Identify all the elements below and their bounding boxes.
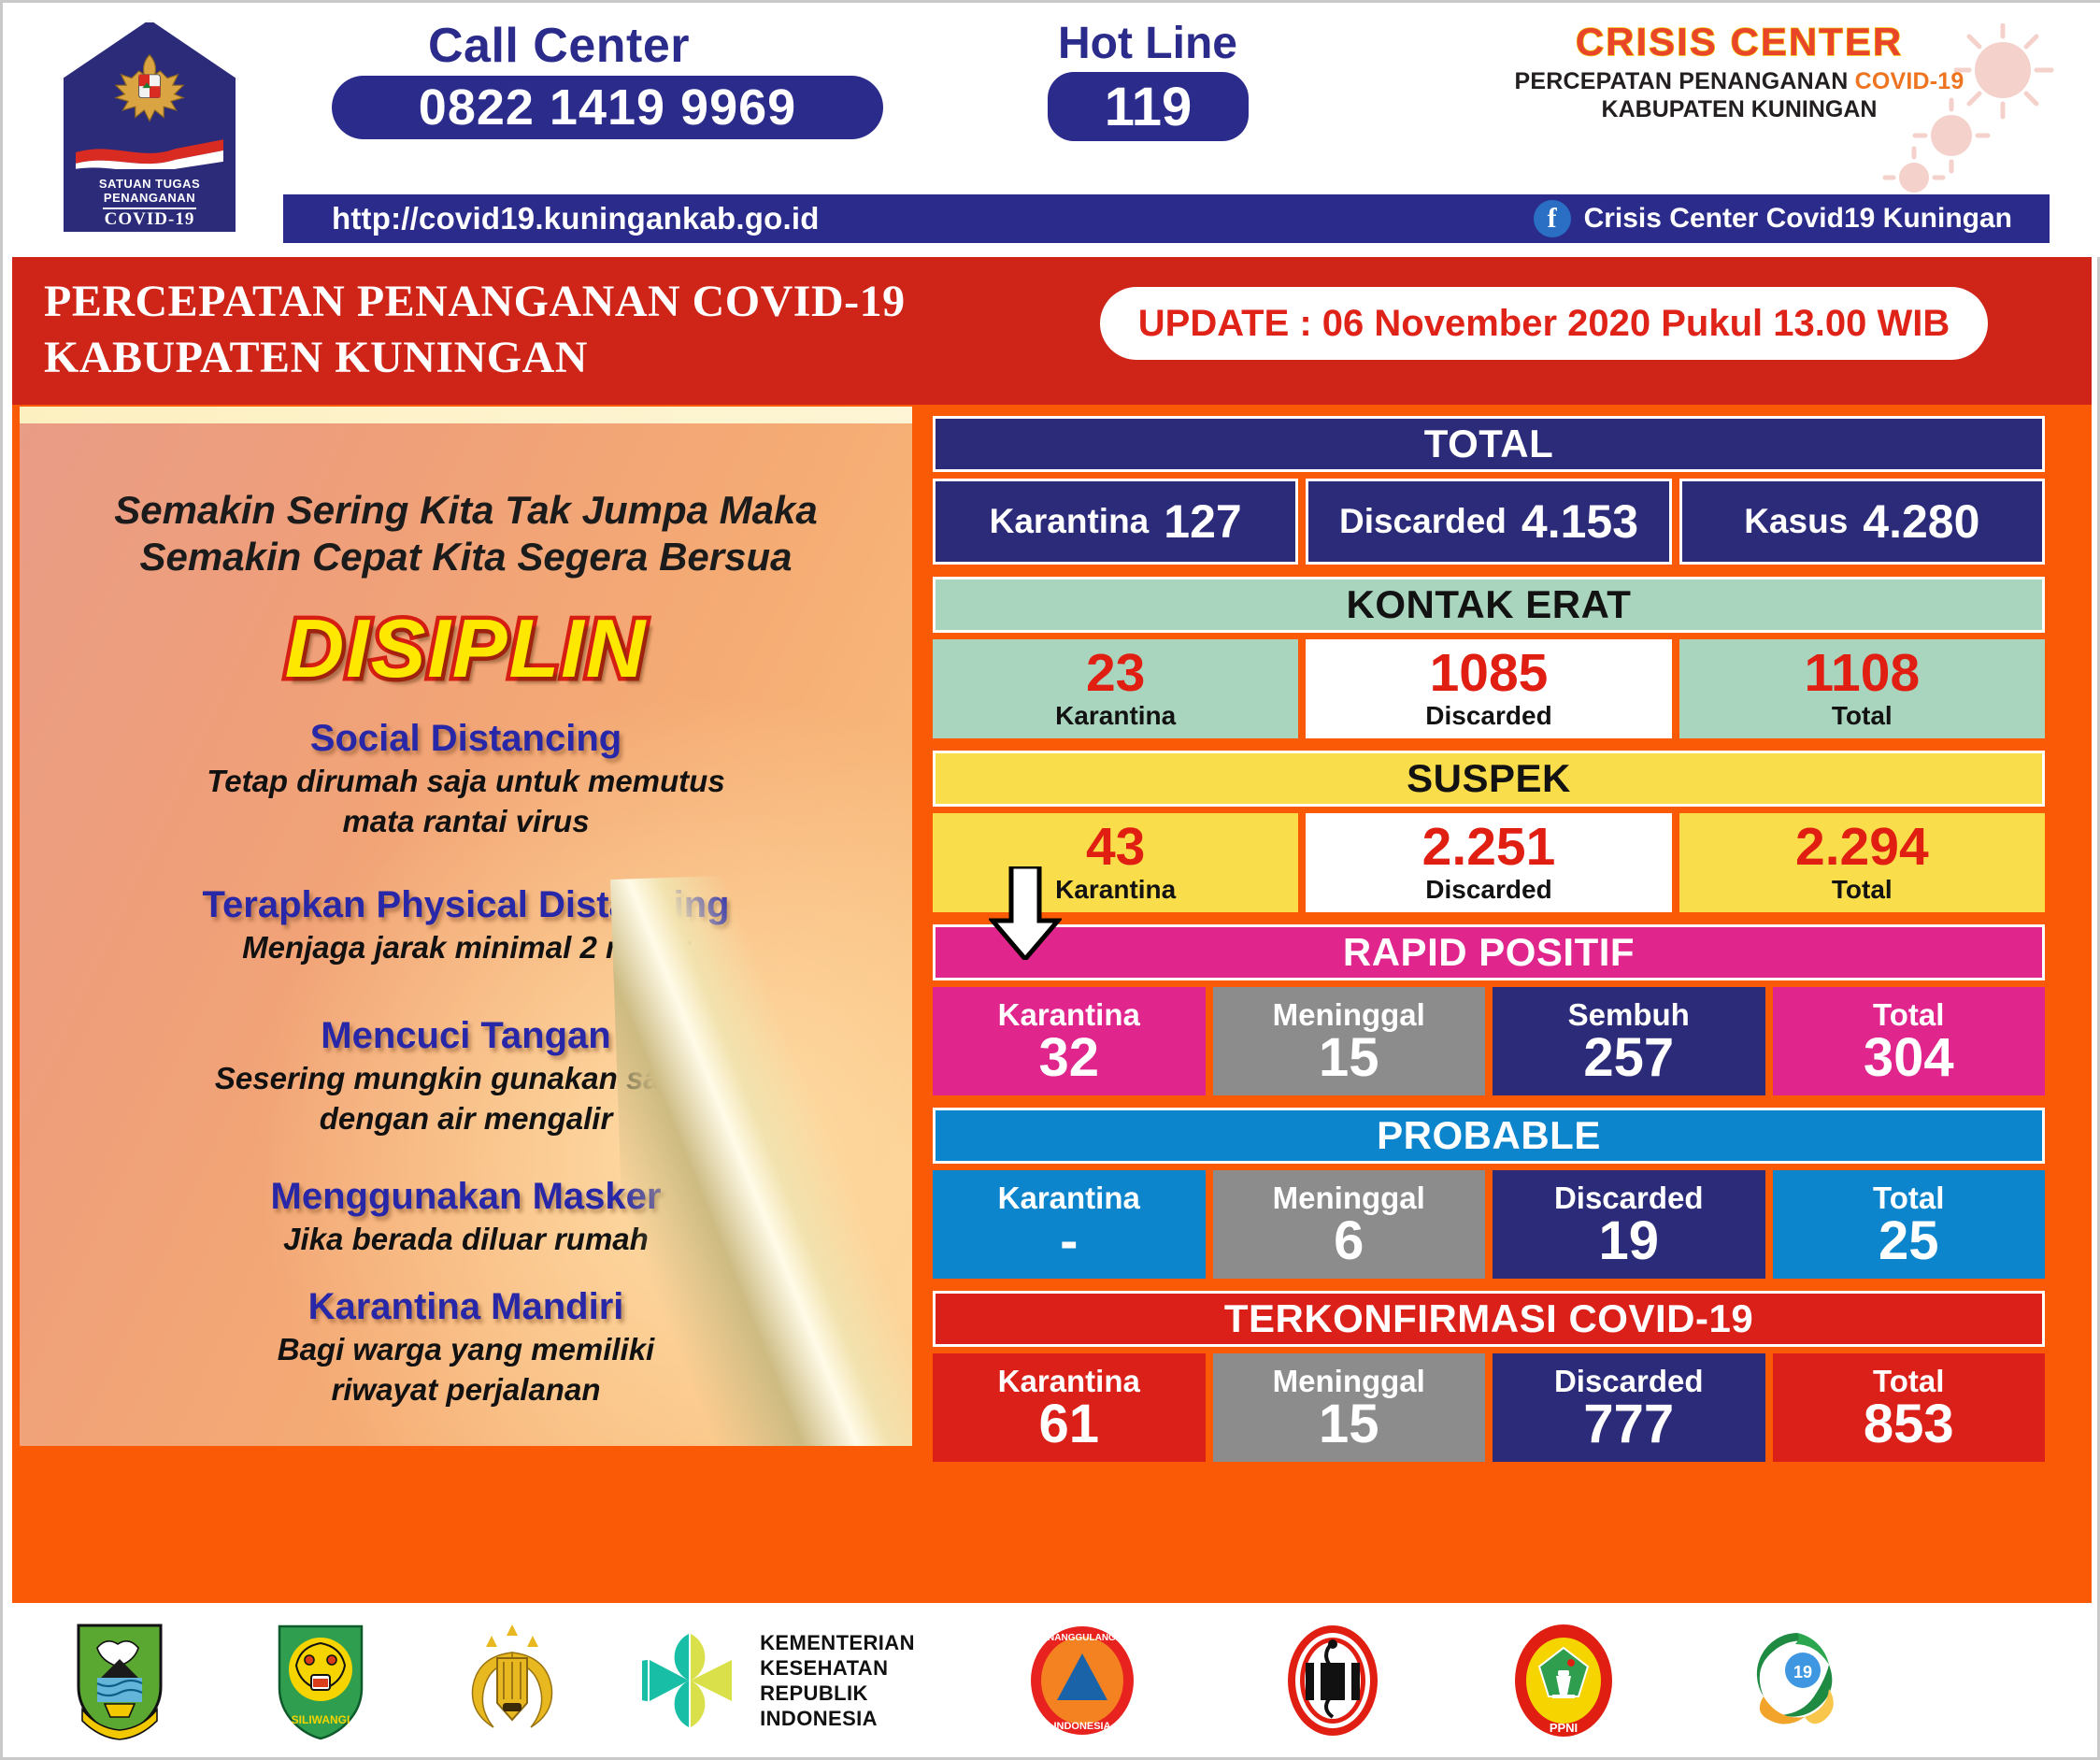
quote-line-2: Semakin Cepat Kita Segera Bersua [20, 534, 912, 580]
cell-label: Meninggal [1273, 998, 1425, 1031]
logo-kabupaten-kuningan [12, 1620, 227, 1741]
crisis-center-title: CRISIS CENTER [1450, 20, 2029, 64]
logo-kemenkes: KEMENTERIAN KESEHATAN REPUBLIK INDONESIA [610, 1628, 947, 1733]
logo-kodam-siliwangi: SILIWANGI [227, 1621, 414, 1740]
card-kontak-erat: KONTAK ERAT 23 Karantina 1085 Discarded … [933, 577, 2045, 738]
cell-value: 15 [1319, 1397, 1379, 1452]
cell-label: Discarded [1425, 701, 1551, 731]
facebook-icon: f [1534, 200, 1571, 237]
cell-label: Total [1873, 998, 1944, 1031]
card-suspek-row: 43 Karantina 2.251 Discarded 2.294 Total [933, 813, 2045, 912]
motivational-quote: Semakin Sering Kita Tak Jumpa Maka Semak… [20, 487, 912, 580]
kemenkes-line-4: INDONESIA [760, 1706, 915, 1731]
cell-value: 43 [1086, 821, 1145, 873]
ppni-caption: PPNI [1550, 1721, 1578, 1735]
satgas-logo-caption: SATUAN TUGAS PENANGANAN COVID-19 [61, 177, 238, 226]
kemenkes-caption: KEMENTERIAN KESEHATAN REPUBLIK INDONESIA [760, 1630, 915, 1731]
cell-label: Discarded [1425, 875, 1551, 905]
kontak-cell-total: 1108 Total [1679, 639, 2045, 738]
rule-menggunakan-masker: Menggunakan Masker Jika berada diluar ru… [20, 1175, 912, 1258]
covid-logo-number: 19 [1793, 1663, 1812, 1681]
idi-emblem-icon [1281, 1622, 1384, 1739]
satgas-line-3: COVID-19 [61, 212, 238, 226]
polri-emblem-icon [454, 1621, 571, 1740]
kemenkes-lockup: KEMENTERIAN KESEHATAN REPUBLIK INDONESIA [642, 1628, 915, 1733]
cell-value: 1108 [1804, 647, 1920, 699]
statistics-column: TOTAL Karantina 127 Discarded 4.153 Kasu… [933, 416, 2045, 1474]
card-suspek-heading: SUSPEK [933, 751, 2045, 807]
cell-label: Total [1832, 875, 1893, 905]
rapid-cell-sembuh: Sembuh 257 [1493, 987, 1765, 1095]
facebook-link[interactable]: f Crisis Center Covid19 Kuningan [1534, 194, 2012, 243]
total-cell-karantina: Karantina 127 [933, 479, 1298, 565]
cell-value: 4.153 [1521, 494, 1638, 549]
cell-label: Sembuh [1568, 998, 1690, 1031]
call-center-label: Call Center [283, 18, 835, 74]
website-bar: http://covid19.kuningankab.go.id f Crisi… [283, 194, 2050, 243]
logo-bnpb: PENANGGULANGAN INDONESIA [947, 1624, 1218, 1738]
update-timestamp: UPDATE : 06 November 2020 Pukul 13.00 WI… [1100, 287, 1988, 360]
card-total-row: Karantina 127 Discarded 4.153 Kasus 4.28… [933, 479, 2045, 565]
prevention-tips-panel: Semakin Sering Kita Tak Jumpa Maka Semak… [20, 407, 912, 1446]
rapid-cell-karantina: Karantina 32 [933, 987, 1206, 1095]
card-kontak-erat-row: 23 Karantina 1085 Discarded 1108 Total [933, 639, 2045, 738]
card-rapid-positif-heading: RAPID POSITIF [933, 924, 2045, 980]
cell-label: Total [1873, 1181, 1944, 1214]
rule-title: Karantina Mandiri [20, 1285, 912, 1328]
cell-value: 19 [1598, 1214, 1659, 1268]
card-total: TOTAL Karantina 127 Discarded 4.153 Kasu… [933, 416, 2045, 565]
probable-cell-total: Total 25 [1773, 1170, 2046, 1279]
rule-desc-line-1: Sesering mungkin gunakan sabun [20, 1059, 912, 1097]
card-rapid-positif-row: Karantina 32 Meninggal 15 Sembuh 257 Tot… [933, 987, 2045, 1095]
crisis-center-branding: CRISIS CENTER PERCEPATAN PENANGANAN COVI… [1450, 20, 2029, 123]
card-probable: PROBABLE Karantina - Meninggal 6 Discard… [933, 1108, 2045, 1279]
card-kontak-erat-heading: KONTAK ERAT [933, 577, 2045, 633]
ppni-emblem-icon: PPNI [1509, 1622, 1618, 1739]
crisis-center-subtitle-2: KABUPATEN KUNINGAN [1450, 96, 2029, 123]
logo-polri [414, 1621, 610, 1740]
cell-label: Kasus [1744, 502, 1848, 541]
cell-value: 257 [1583, 1031, 1674, 1085]
rule-title: Mencuci Tangan [20, 1014, 912, 1057]
rule-title: Terapkan Physical Distancing [20, 883, 912, 926]
partner-logos-footer: SILIWANGI [12, 1603, 2092, 1757]
cell-value: 23 [1086, 647, 1145, 699]
cell-value: 4.280 [1863, 494, 1979, 549]
total-cell-discarded: Discarded 4.153 [1306, 479, 1671, 565]
rule-mencuci-tangan: Mencuci Tangan Sesering mungkin gunakan … [20, 1014, 912, 1138]
logo-covid19-handling: 19 [1680, 1625, 1914, 1736]
cell-label: Karantina [998, 1365, 1140, 1397]
suspek-cell-total: 2.294 Total [1679, 813, 2045, 912]
covid-infographic-poster: SATUAN TUGAS PENANGANAN COVID-19 Call Ce… [0, 0, 2100, 1760]
logo-ppni: PPNI [1447, 1622, 1680, 1739]
rule-desc-line-1: Bagi warga yang memiliki [20, 1330, 912, 1368]
satgas-line-1: SATUAN TUGAS [61, 177, 238, 191]
kontak-cell-discarded: 1085 Discarded [1306, 639, 1671, 738]
cell-label: Discarded [1554, 1365, 1704, 1397]
rule-desc-line-1: Jika berada diluar rumah [20, 1220, 912, 1258]
card-total-heading: TOTAL [933, 416, 2045, 472]
cell-value: 25 [1879, 1214, 1939, 1268]
rule-desc-line-1: Tetap dirumah saja untuk memutus [20, 762, 912, 800]
disiplin-headline: DISIPLIN [20, 601, 912, 696]
banner-title-line-1: PERCEPATAN PENANGANAN COVID-19 [44, 276, 906, 327]
page-header: SATUAN TUGAS PENANGANAN COVID-19 Call Ce… [3, 3, 2100, 257]
hotline-label: Hot Line [993, 18, 1302, 69]
cell-label: Karantina [998, 998, 1140, 1031]
probable-cell-meninggal: Meninggal 6 [1213, 1170, 1486, 1279]
kemenkes-line-3: REPUBLIK [760, 1681, 915, 1706]
cell-label: Karantina [990, 502, 1150, 541]
siliwangi-caption: SILIWANGI [292, 1713, 350, 1726]
cell-label: Meninggal [1273, 1365, 1425, 1397]
card-rapid-positif: RAPID POSITIF Karantina 32 Meninggal 15 … [933, 924, 2045, 1095]
card-probable-heading: PROBABLE [933, 1108, 2045, 1164]
satgas-line-2: PENANGANAN [61, 191, 238, 205]
quote-line-1: Semakin Sering Kita Tak Jumpa Maka [20, 487, 912, 534]
suspek-cell-karantina: 43 Karantina [933, 813, 1298, 912]
cell-value: 15 [1319, 1031, 1379, 1085]
rule-desc-line-2: mata rantai virus [20, 802, 912, 840]
garuda-icon [105, 51, 194, 128]
bnpb-emblem-icon: PENANGGULANGAN INDONESIA [1025, 1624, 1139, 1738]
banner-title-line-2: KABUPATEN KUNINGAN [44, 332, 588, 383]
facebook-page-name: Crisis Center Covid19 Kuningan [1584, 203, 2012, 235]
rule-desc-line-2: riwayat perjalanan [20, 1370, 912, 1409]
cell-label: Karantina [998, 1181, 1140, 1214]
cell-label: Karantina [1055, 701, 1176, 731]
cell-value: 777 [1583, 1397, 1674, 1452]
card-probable-row: Karantina - Meninggal 6 Discarded 19 Tot… [933, 1170, 2045, 1279]
rule-desc-line-1: Menjaga jarak minimal 2 meter [20, 928, 912, 966]
title-banner: PERCEPATAN PENANGANAN COVID-19 KABUPATEN… [20, 261, 1094, 403]
svg-text:PENANGGULANGAN: PENANGGULANGAN [1036, 1633, 1130, 1643]
cell-value: 304 [1864, 1031, 1954, 1085]
rule-desc-line-2: dengan air mengalir [20, 1099, 912, 1138]
cell-value: 853 [1864, 1397, 1954, 1452]
siliwangi-emblem-icon: SILIWANGI [274, 1621, 367, 1740]
card-terkonfirmasi: TERKONFIRMASI COVID-19 Karantina 61 Meni… [933, 1291, 2045, 1462]
cell-value: 61 [1038, 1397, 1099, 1452]
kontak-cell-karantina: 23 Karantina [933, 639, 1298, 738]
rule-title: Menggunakan Masker [20, 1175, 912, 1218]
terkonfirmasi-cell-discarded: Discarded 777 [1493, 1353, 1765, 1462]
terkonfirmasi-cell-total: Total 853 [1773, 1353, 2046, 1462]
cell-label: Total [1873, 1365, 1944, 1397]
cell-label: Karantina [1055, 875, 1176, 905]
main-content-area: PERCEPATAN PENANGANAN COVID-19 KABUPATEN… [12, 257, 2092, 1603]
cell-value: 32 [1038, 1031, 1099, 1085]
rule-social-distancing: Social Distancing Tetap dirumah saja unt… [20, 717, 912, 840]
cell-label: Discarded [1339, 502, 1507, 541]
covid19-handling-logo-icon: 19 [1741, 1625, 1853, 1736]
crisis-center-subtitle-1: PERCEPATAN PENANGANAN COVID-19 [1450, 68, 2029, 95]
cell-value: 2.294 [1795, 821, 1929, 873]
rapid-cell-total: Total 304 [1773, 987, 2046, 1095]
cell-label: Discarded [1554, 1181, 1704, 1214]
suspek-cell-discarded: 2.251 Discarded [1306, 813, 1671, 912]
website-url[interactable]: http://covid19.kuningankab.go.id [332, 201, 820, 236]
cell-label: Meninggal [1273, 1181, 1425, 1214]
rule-physical-distancing: Terapkan Physical Distancing Menjaga jar… [20, 883, 912, 966]
logo-idi [1218, 1622, 1447, 1739]
kemenkes-logo-icon [642, 1628, 745, 1733]
terkonfirmasi-cell-meninggal: Meninggal 15 [1213, 1353, 1486, 1462]
kemenkes-line-1: KEMENTERIAN [760, 1630, 915, 1655]
rule-karantina-mandiri: Karantina Mandiri Bagi warga yang memili… [20, 1285, 912, 1409]
card-terkonfirmasi-row: Karantina 61 Meninggal 15 Discarded 777 … [933, 1353, 2045, 1462]
probable-cell-discarded: Discarded 19 [1493, 1170, 1765, 1279]
kemenkes-line-2: KESEHATAN [760, 1655, 915, 1681]
cell-label: Total [1832, 701, 1893, 731]
hotline-number[interactable]: 119 [1048, 72, 1249, 141]
probable-cell-karantina: Karantina - [933, 1170, 1206, 1279]
crisis-sub-b: COVID-19 [1855, 68, 1964, 94]
kabupaten-kuningan-emblem-icon [69, 1620, 170, 1741]
cell-value: 6 [1334, 1214, 1364, 1268]
terkonfirmasi-cell-karantina: Karantina 61 [933, 1353, 1206, 1462]
panel-top-band [20, 407, 912, 423]
cell-value: 127 [1164, 494, 1241, 549]
rapid-cell-meninggal: Meninggal 15 [1213, 987, 1486, 1095]
call-center-number[interactable]: 0822 1419 9969 [332, 76, 883, 139]
satgas-covid19-logo: SATUAN TUGAS PENANGANAN COVID-19 [61, 20, 238, 235]
cell-value: 2.251 [1422, 821, 1556, 873]
total-cell-kasus: Kasus 4.280 [1679, 479, 2045, 565]
crisis-sub-a: PERCEPATAN PENANGANAN [1514, 68, 1854, 94]
down-arrow-icon [989, 866, 1062, 960]
card-suspek: SUSPEK 43 Karantina 2.251 Discarded 2.29… [933, 751, 2045, 912]
cell-value: 1085 [1430, 647, 1549, 699]
cell-value: - [1060, 1214, 1078, 1268]
svg-text:INDONESIA: INDONESIA [1053, 1721, 1110, 1732]
indonesia-flag-ribbon-icon [76, 137, 223, 169]
card-terkonfirmasi-heading: TERKONFIRMASI COVID-19 [933, 1291, 2045, 1347]
rule-title: Social Distancing [20, 717, 912, 760]
